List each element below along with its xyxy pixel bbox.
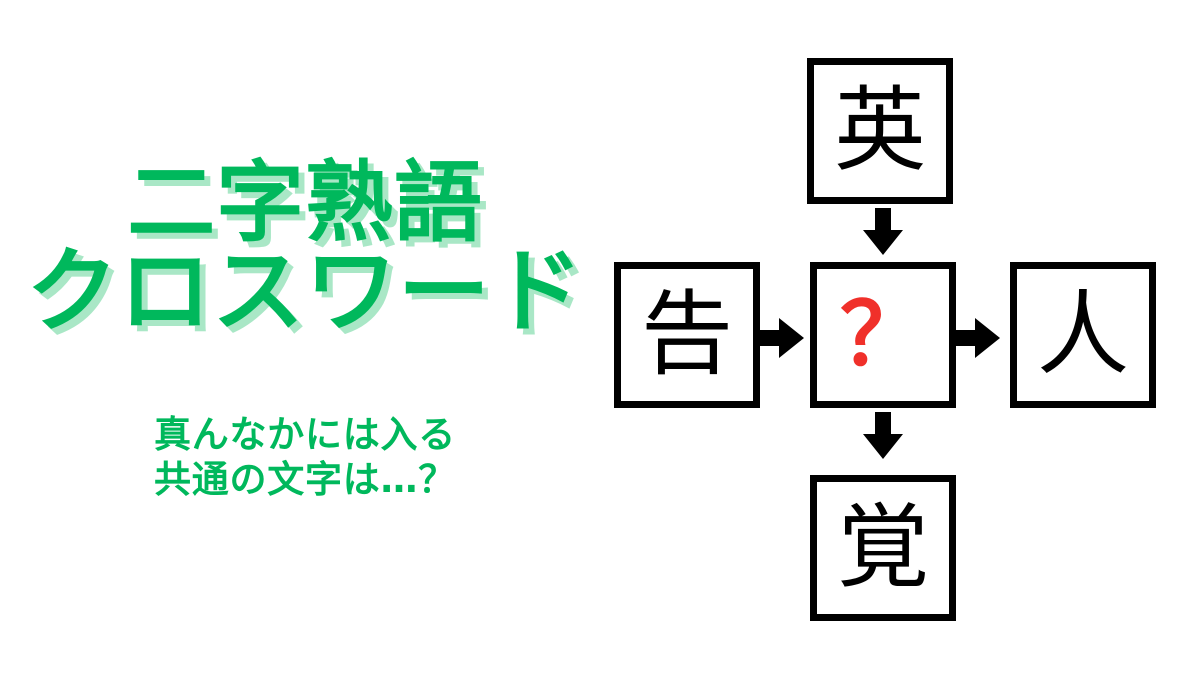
puzzle-cell-center: ？ — [810, 262, 956, 408]
puzzle-cell-bottom: 覚 — [810, 475, 956, 621]
puzzle-cell-right: 人 — [1010, 262, 1156, 408]
puzzle-cell-left: 告 — [614, 262, 760, 408]
puzzle-cell-left-glyph: 告 — [641, 289, 733, 381]
arrow-down-icon — [862, 412, 904, 460]
kanji-crossword-diagram: 英 告 ？ 人 覚 — [600, 40, 1200, 640]
arrow-right-icon — [953, 317, 1001, 359]
arrow-down-icon — [862, 208, 904, 256]
slide-canvas: 二字熟語 クロスワード 真んなかには入る 共通の文字は…？ 英 告 ？ 人 覚 — [0, 0, 1200, 675]
subtitle-line-2: 共通の文字は…？ — [0, 457, 610, 502]
puzzle-cell-center-glyph: ？ — [840, 292, 926, 378]
subtitle-block: 真んなかには入る 共通の文字は…？ — [0, 412, 610, 502]
subtitle-line-1: 真んなかには入る — [0, 412, 610, 457]
title-block: 二字熟語 クロスワード — [0, 158, 610, 339]
puzzle-cell-bottom-glyph: 覚 — [837, 502, 929, 594]
puzzle-cell-right-glyph: 人 — [1037, 289, 1129, 381]
arrow-right-icon — [757, 317, 805, 359]
puzzle-cell-top-glyph: 英 — [834, 85, 926, 177]
title-line-1: 二字熟語 — [0, 158, 610, 249]
title-line-2: クロスワード — [0, 245, 610, 340]
puzzle-cell-top: 英 — [807, 58, 953, 204]
